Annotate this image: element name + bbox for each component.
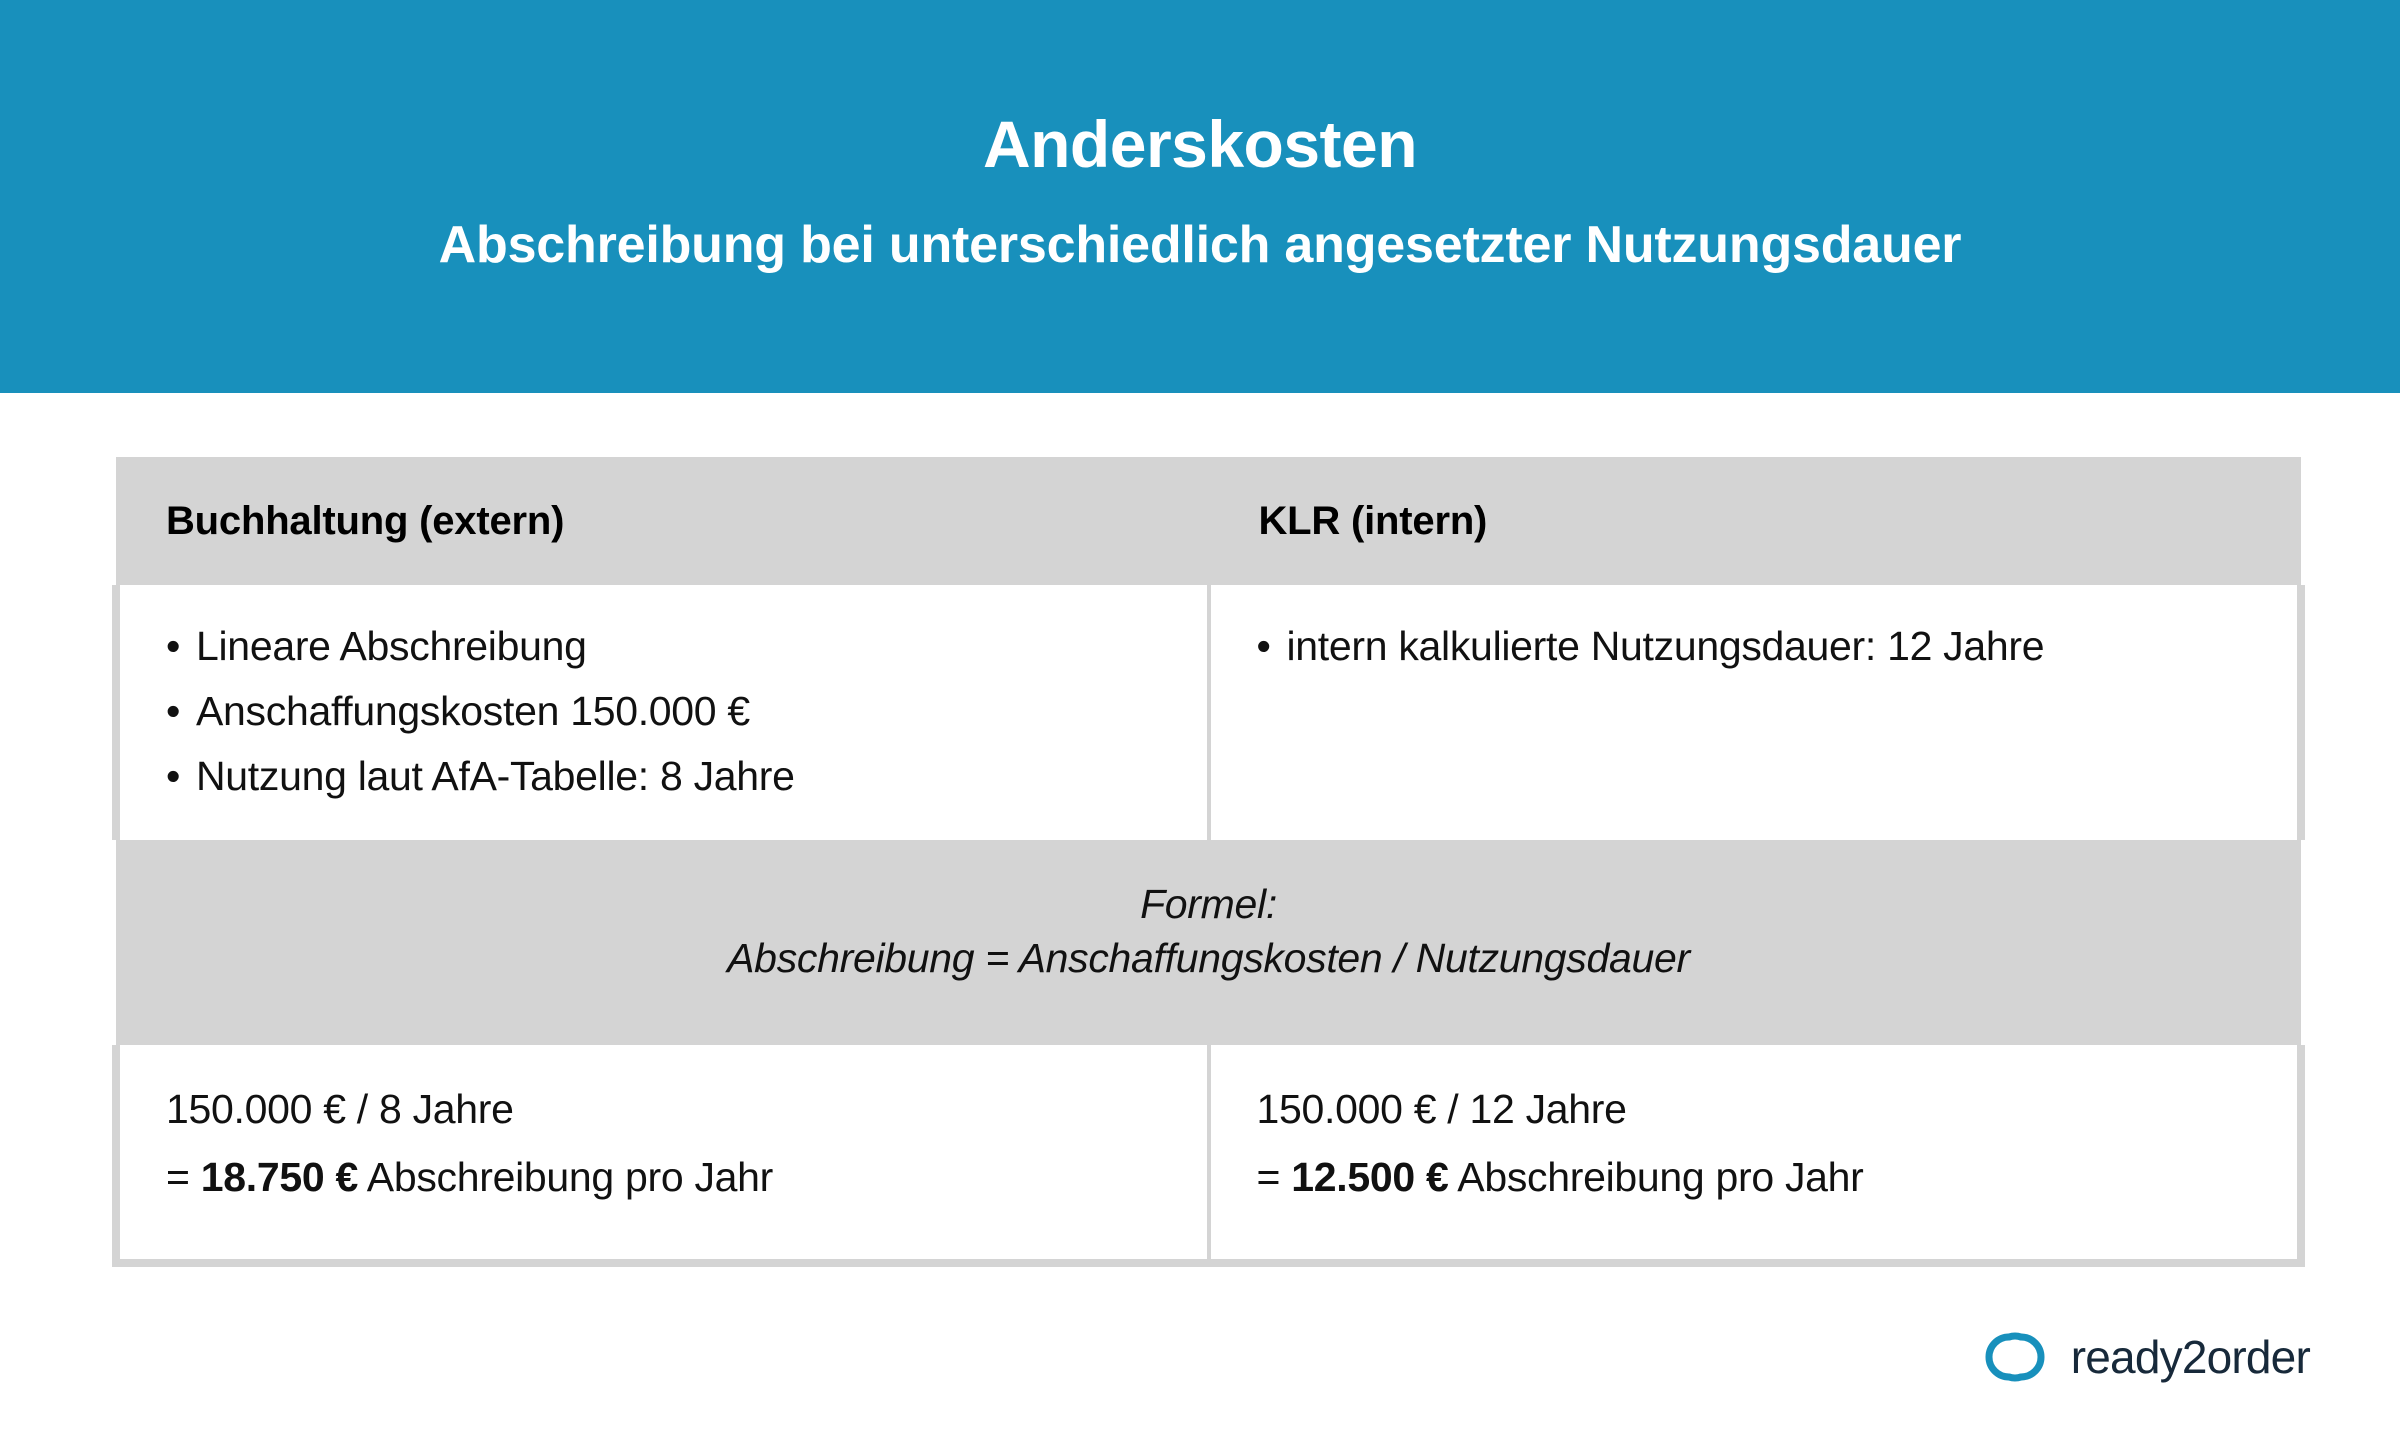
- result-total-buchhaltung: = 18.750 € Abschreibung pro Jahr: [166, 1133, 1167, 1201]
- bullet-list-klr: • intern kalkulierte Nutzungsdauer: 12 J…: [1257, 625, 2258, 669]
- list-item: • Lineare Abschreibung: [166, 625, 1167, 669]
- comparison-table-container: Buchhaltung (extern) KLR (intern) • Line…: [112, 457, 2305, 1267]
- header-band: Anderskosten Abschreibung bei unterschie…: [0, 0, 2400, 393]
- page-title: Anderskosten: [983, 110, 1417, 179]
- table-result-row: 150.000 € / 8 Jahre = 18.750 € Abschreib…: [116, 1045, 2301, 1263]
- list-item-label: intern kalkulierte Nutzungsdauer: 12 Jah…: [1287, 623, 2045, 669]
- list-item: • Anschaffungskosten 150.000 €: [166, 690, 1167, 734]
- table-formula-row: Formel: Abschreibung = Anschaffungskoste…: [116, 840, 2301, 1045]
- page-subtitle: Abschreibung bei unterschiedlich angeset…: [439, 179, 1962, 274]
- result-calculation-buchhaltung: 150.000 € / 8 Jahre: [166, 1087, 1167, 1133]
- bullet-dot-icon: •: [166, 625, 180, 669]
- bullet-dot-icon: •: [1257, 625, 1271, 669]
- column-header-buchhaltung: Buchhaltung (extern): [166, 501, 1209, 541]
- formula-label: Formel:: [116, 880, 2301, 928]
- cell-buchhaltung-bullets: • Lineare Abschreibung • Anschaffungskos…: [116, 585, 1209, 840]
- table-body-row: • Lineare Abschreibung • Anschaffungskos…: [116, 585, 2301, 840]
- result-suffix-klr: Abschreibung pro Jahr: [1448, 1154, 1863, 1200]
- column-header-cell-buchhaltung: Buchhaltung (extern): [116, 457, 1209, 585]
- list-item: • intern kalkulierte Nutzungsdauer: 12 J…: [1257, 625, 2258, 669]
- formula-expression: Abschreibung = Anschaffungskosten / Nutz…: [116, 928, 2301, 982]
- list-item: • Nutzung laut AfA-Tabelle: 8 Jahre: [166, 755, 1167, 799]
- cell-buchhaltung-result: 150.000 € / 8 Jahre = 18.750 € Abschreib…: [116, 1045, 1209, 1263]
- cell-klr-bullets: • intern kalkulierte Nutzungsdauer: 12 J…: [1209, 585, 2302, 840]
- list-item-label: Anschaffungskosten 150.000 €: [196, 688, 750, 734]
- bullet-list-buchhaltung: • Lineare Abschreibung • Anschaffungskos…: [166, 625, 1167, 799]
- cell-formula: Formel: Abschreibung = Anschaffungskoste…: [116, 840, 2301, 1045]
- cell-klr-result: 150.000 € / 12 Jahre = 12.500 € Abschrei…: [1209, 1045, 2302, 1263]
- result-equals-sign: =: [1257, 1154, 1292, 1200]
- list-item-label: Lineare Abschreibung: [196, 623, 587, 669]
- column-header-klr: KLR (intern): [1259, 501, 2302, 541]
- result-suffix-buchhaltung: Abschreibung pro Jahr: [358, 1154, 773, 1200]
- table-header-row: Buchhaltung (extern) KLR (intern): [116, 457, 2301, 585]
- brand-logo-text: ready2order: [2071, 1334, 2310, 1380]
- result-amount-buchhaltung: 18.750 €: [201, 1154, 358, 1200]
- brand-logo: ready2order: [1979, 1330, 2310, 1384]
- result-amount-klr: 12.500 €: [1291, 1154, 1448, 1200]
- ready2order-logo-icon: [1979, 1330, 2051, 1384]
- result-equals-sign: =: [166, 1154, 201, 1200]
- result-total-klr: = 12.500 € Abschreibung pro Jahr: [1257, 1133, 2258, 1201]
- list-item-label: Nutzung laut AfA-Tabelle: 8 Jahre: [196, 753, 795, 799]
- column-header-cell-klr: KLR (intern): [1209, 457, 2302, 585]
- comparison-table: Buchhaltung (extern) KLR (intern) • Line…: [112, 457, 2305, 1267]
- bullet-dot-icon: •: [166, 755, 180, 799]
- result-calculation-klr: 150.000 € / 12 Jahre: [1257, 1087, 2258, 1133]
- bullet-dot-icon: •: [166, 690, 180, 734]
